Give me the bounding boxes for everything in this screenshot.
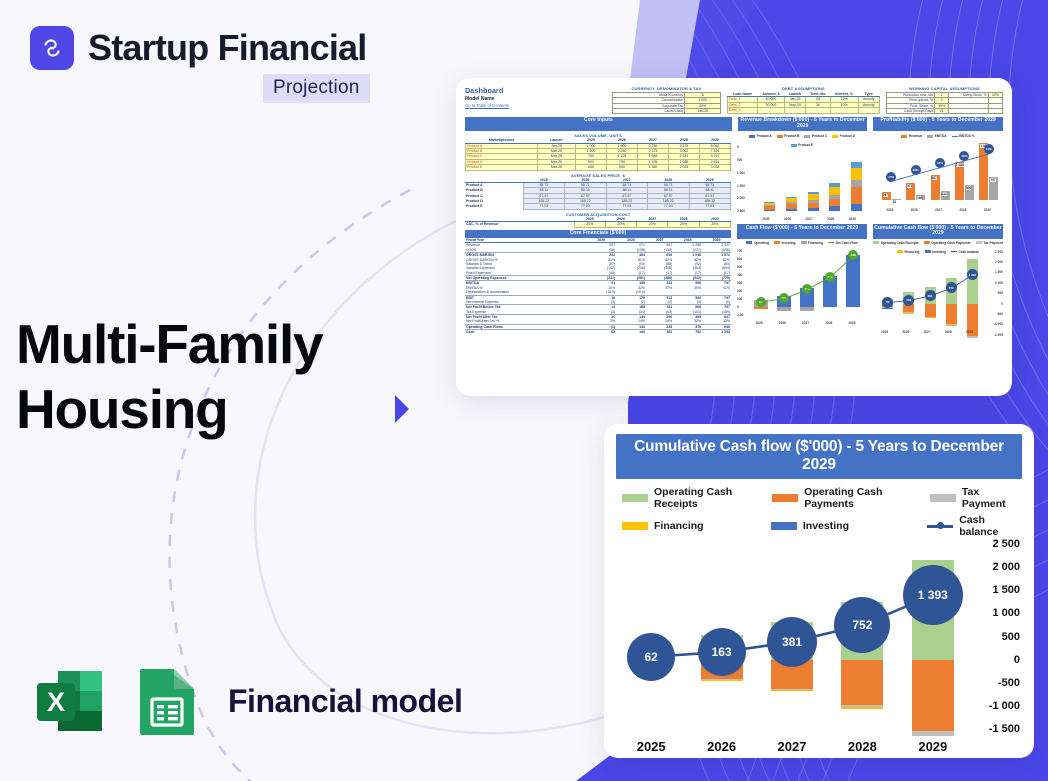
poster-canvas: Startup Financial Projection Multi-Famil… — [0, 0, 1048, 781]
table-row: CAC, % of Revenue20%20%20%20%20% — [465, 222, 731, 227]
legend-row: Operating Cash Receipts Operating Cash P… — [622, 486, 1020, 510]
legend-line-icon — [828, 242, 834, 243]
cash-balance-point: 163 — [903, 295, 914, 306]
bar-segment — [829, 199, 840, 206]
legend-item: Product A — [749, 134, 772, 138]
table-row: Product EMar-254009001 3502 0253 038 — [466, 165, 731, 170]
cumulative-cash-flow-chart-title: Cumulative Cash flow ($'000) - 5 Years t… — [873, 224, 1003, 238]
debt-block-header: DEBT ASSUMPTIONS — [727, 86, 880, 91]
brand-logo: Startup Financial — [30, 26, 366, 70]
legend-item: Operating Cash Receipts — [873, 241, 918, 245]
bar-segment — [851, 180, 862, 187]
y-axis-tick: 2 000 — [992, 561, 1020, 573]
y-axis-tick: 1 500 — [992, 584, 1020, 596]
cash-balance-point: 62 — [882, 297, 893, 308]
legend-item-tax-payment: Tax Payment — [930, 486, 1020, 510]
legend-line-icon — [951, 251, 957, 252]
x-axis-tick: 2027 — [778, 739, 807, 754]
y-axis-label: 2 000 — [737, 196, 745, 200]
big-chart-plot: 621633817521 393 2 5002 0001 5001 000500… — [616, 544, 1022, 754]
x-axis-label: 2025 — [762, 217, 769, 221]
legend-item: Product B — [777, 134, 800, 138]
y-axis-tick: 1 000 — [992, 607, 1020, 619]
table-row: Debt_3 — [728, 108, 880, 113]
legend-item: Product D — [832, 134, 855, 138]
dashboard-charts: Product AProduct BProduct CProduct DProd… — [737, 133, 1003, 334]
table-row: Cash Receipt Days21 — [886, 108, 1002, 113]
bar-segment — [764, 205, 775, 206]
x-axis-tick: 2026 — [707, 739, 736, 754]
legend-swatch-icon — [832, 135, 838, 138]
page-title: Multi-Family Housing — [16, 312, 436, 442]
data-label: 163 — [698, 628, 746, 676]
bar-segment — [808, 200, 819, 203]
bar-segment — [829, 195, 840, 199]
legend-swatch-icon — [873, 241, 879, 244]
dashboard-title: Dashboard — [465, 86, 612, 95]
currency-block-header: CURRENCY, DENOMINATOR & TAX — [612, 86, 722, 91]
legend-item-investing: Investing — [771, 514, 927, 538]
legend-swatch-icon — [749, 135, 755, 138]
legend-swatch-icon — [924, 241, 930, 244]
x-axis-tick: 2025 — [637, 739, 666, 754]
legend-item: Operating Cash Payments — [924, 241, 971, 245]
working-capital-table: Production time, Mo2Safety Stock, %10% P… — [886, 92, 1003, 114]
table-row: Product E77.0377.0377.0377.0377.03 — [465, 204, 731, 209]
legend-row: Financing Investing Cash balance — [622, 514, 1020, 538]
cumulative-cash-flow-card[interactable]: Cumulative Cash flow ($'000) - 5 Years t… — [604, 424, 1034, 758]
microsoft-excel-icon: X — [32, 663, 108, 739]
cash-flow-chart[interactable]: OperatingInvestingFinancingNet Cash Flow… — [737, 240, 867, 334]
bar-segment — [808, 192, 819, 195]
y-axis-label: 2 500 — [737, 209, 745, 213]
google-sheets-icon — [130, 663, 206, 739]
legend-swatch-icon — [771, 522, 797, 530]
legend-swatch-icon — [777, 135, 783, 138]
bar-segment — [786, 204, 797, 209]
format-badges: X Financial model — [32, 663, 462, 739]
debt-assumptions-table: Loan NameAmount, $LaunchTerm, MoInterest… — [727, 92, 880, 114]
data-label: 381 — [767, 617, 817, 667]
y-axis-label: 1 000 — [737, 171, 745, 175]
y-axis-tick: 2 500 — [992, 538, 1020, 550]
data-label: 62 — [627, 633, 675, 681]
big-chart-x-axis: 20252026202720282029 — [616, 732, 968, 754]
svg-text:X: X — [47, 687, 65, 717]
sales-volume-table: Market/productLaunch20252026202720282029… — [465, 138, 731, 170]
x-axis-tick: 2029 — [918, 739, 947, 754]
y-axis-tick: -1 500 — [989, 723, 1020, 735]
cash-balance-point: 381 — [925, 290, 936, 301]
legend-item: Tax Payment — [976, 241, 1003, 245]
bar-segment — [786, 209, 797, 211]
cash-flow-chart-title: Cash Flow ($'000) - 5 Years to December … — [737, 224, 867, 238]
revenue-breakdown-chart[interactable]: Product AProduct BProduct CProduct DProd… — [737, 133, 867, 221]
bar-segment — [764, 203, 775, 205]
dashboard-model-name: Model Name — [465, 96, 612, 102]
brand-name: Startup Financial — [88, 30, 366, 66]
bar-segment — [808, 194, 819, 199]
y-axis-tick: 0 — [1014, 654, 1020, 666]
legend-line-icon — [952, 136, 958, 137]
y-axis-tick: -500 — [998, 677, 1020, 689]
bar-segment — [829, 183, 840, 187]
dashboard-toc-link[interactable]: Go to Table of Contents — [465, 103, 612, 108]
y-axis-label: 500 — [737, 158, 742, 162]
bar-segment — [851, 204, 862, 212]
y-axis-label: 0 — [737, 145, 739, 149]
legend-item-cash-balance: Cash balance — [927, 514, 1020, 538]
bar-segment — [851, 168, 862, 180]
cumulative-cash-flow-chart[interactable]: Operating Cash ReceiptsOperating Cash Pa… — [873, 240, 1003, 334]
bar-segment — [786, 197, 797, 199]
data-label: 1 393 — [903, 565, 963, 625]
bar-segment — [764, 210, 775, 212]
x-axis-label: 2026 — [784, 217, 791, 221]
bar-segment — [808, 203, 819, 208]
dashboard-sheet: Dashboard Model Name Go to Table of Cont… — [465, 86, 1003, 388]
x-axis-label: 2027 — [806, 217, 813, 221]
revenue-breakdown-chart-title: Revenue Breakdown ($'000) - 5 Years to D… — [738, 117, 868, 131]
y-axis-tick: 500 — [1002, 631, 1020, 643]
y-axis-label: 1 500 — [737, 184, 745, 188]
legend-item: Product C — [804, 134, 827, 138]
legend-item-operating-cash-receipts: Operating Cash Receipts — [622, 486, 772, 510]
big-chart-legend: Operating Cash Receipts Operating Cash P… — [622, 486, 1020, 538]
legend-swatch-icon — [930, 494, 956, 502]
legend-swatch-icon — [622, 522, 648, 530]
cash-balance-line — [873, 254, 1003, 334]
bar-segment — [764, 206, 775, 209]
format-badge-label: Financial model — [228, 683, 462, 720]
x-axis-label: 2028 — [827, 217, 834, 221]
bar-segment — [967, 336, 978, 338]
bar-segment — [829, 187, 840, 195]
cac-table: 20252026202720282029CAC, % of Revenue20%… — [465, 217, 731, 228]
cash-balance-point: 1 393 — [967, 269, 978, 280]
legend-line-icon — [927, 525, 953, 528]
core-financials-table: Fiscal Year20252026202720282029Revenue29… — [465, 238, 731, 335]
ebitda-pct-line — [873, 138, 1003, 212]
data-label: 752 — [834, 597, 890, 653]
bar-segment — [851, 187, 862, 204]
x-axis-label: 2029 — [849, 217, 856, 221]
y-axis-tick: -1 000 — [989, 700, 1020, 712]
ebook-swirl-icon — [30, 26, 74, 70]
bar-segment — [808, 208, 819, 211]
bar-segment — [786, 202, 797, 204]
net-cash-flow-line — [737, 245, 867, 325]
table-row: Launch dateJan-25 — [612, 108, 721, 113]
bar-segment — [786, 198, 797, 202]
profitability-chart[interactable]: RevenueEBITDAEBITDA % 2973110%2025571185… — [873, 133, 1003, 221]
average-price-table: 20252026202720282029Product A58.7158.715… — [465, 178, 731, 210]
brand-subtitle: Projection — [263, 74, 370, 103]
core-inputs-band: Core Inputs — [465, 117, 732, 131]
profitability-chart-title: Profitability ($'000) - 5 Years to Decem… — [873, 117, 1003, 131]
core-inputs-tables: SALES VOLUME, UNITS Market/productLaunch… — [465, 133, 731, 334]
legend-swatch-icon — [976, 241, 982, 244]
core-financials-band: Core Financials ($'000) — [465, 230, 731, 239]
big-chart-y-axis: 2 5002 0001 5001 0005000-500-1 000-1 500 — [960, 544, 1022, 729]
legend-swatch-icon — [622, 494, 648, 502]
dashboard-preview-card[interactable]: Dashboard Model Name Go to Table of Cont… — [456, 78, 1012, 396]
big-chart-title: Cumulative Cash flow ($'000) - 5 Years t… — [616, 434, 1022, 479]
bar-segment — [764, 202, 775, 203]
legend-swatch-icon — [804, 135, 810, 138]
bar-segment — [851, 162, 862, 168]
currency-assumptions-table: Model Currency$ Denomination1 000 Corpor… — [612, 92, 722, 114]
bar-segment — [829, 206, 840, 211]
wc-block-header: WORKING CAPITAL ASSUMPTIONS — [886, 86, 1003, 91]
legend-item-financing: Financing — [622, 514, 771, 538]
table-row: Cash621633817521 393 — [465, 330, 731, 335]
x-axis-tick: 2028 — [848, 739, 877, 754]
legend-item-operating-cash-payments: Operating Cash Payments — [772, 486, 930, 510]
legend-swatch-icon — [772, 494, 798, 502]
